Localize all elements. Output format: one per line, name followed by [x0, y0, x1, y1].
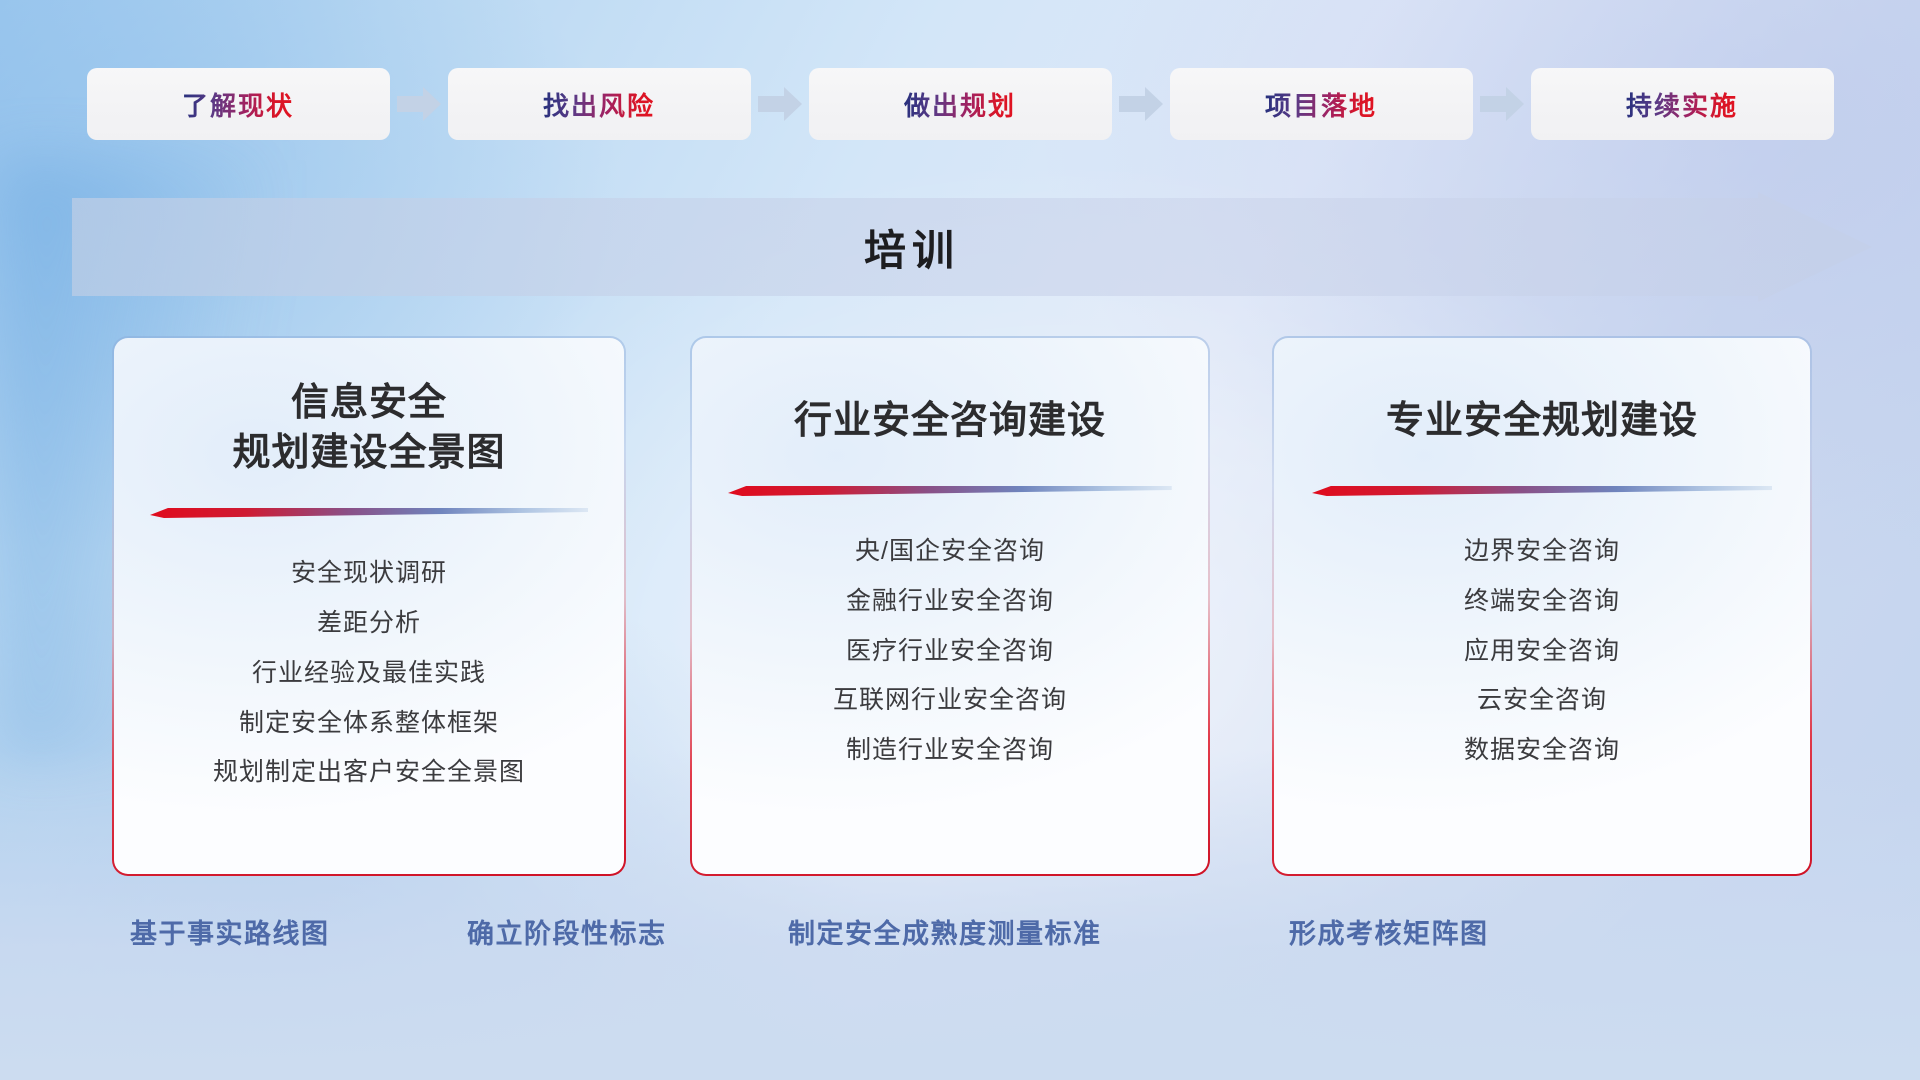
- step-arrow-icon-3: [1112, 68, 1170, 140]
- card-1-divider-wrap: [114, 504, 624, 520]
- card-1-title-line-2: 规划建设全景图: [232, 428, 505, 478]
- card-2[interactable]: 行业安全咨询建设: [690, 336, 1210, 876]
- caption-4: 形成考核矩阵图: [1289, 912, 1489, 951]
- list-item: 医疗行业安全咨询: [846, 632, 1054, 671]
- list-item: 制造行业安全咨询: [846, 731, 1054, 770]
- card-2-inner: 行业安全咨询建设: [692, 338, 1208, 874]
- list-item: 数据安全咨询: [1464, 731, 1620, 770]
- card-3-title: 专业安全规划建设: [1368, 396, 1716, 446]
- step-label-2: 找出风险: [543, 86, 655, 123]
- training-banner: 培训: [72, 192, 1872, 302]
- list-item: 安全现状调研: [291, 554, 447, 593]
- list-item: 金融行业安全咨询: [846, 582, 1054, 621]
- step-box-5[interactable]: 持续实施: [1531, 68, 1834, 140]
- list-item: 应用安全咨询: [1464, 632, 1620, 671]
- card-1-title-line-1: 信息安全: [232, 378, 505, 428]
- caption-row: 基于事实路线图 确立阶段性标志 制定安全成熟度测量标准 形成考核矩阵图: [0, 912, 1920, 972]
- step-arrow-icon-1: [390, 68, 448, 140]
- list-item: 制定安全体系整体框架: [239, 704, 499, 743]
- list-item: 规划制定出客户安全全景图: [213, 753, 525, 792]
- card-3-title-line-1: 专业安全规划建设: [1386, 396, 1698, 446]
- caption-1: 基于事实路线图: [130, 912, 330, 951]
- list-item: 云安全咨询: [1477, 681, 1607, 720]
- step-label-5: 持续实施: [1626, 86, 1738, 123]
- card-1[interactable]: 信息安全 规划建设全景图: [112, 336, 626, 876]
- card-2-divider-icon: [728, 482, 1172, 498]
- card-3-list: 边界安全咨询 终端安全咨询 应用安全咨询 云安全咨询 数据安全咨询: [1274, 532, 1810, 770]
- step-arrow-icon-4: [1473, 68, 1531, 140]
- list-item: 差距分析: [317, 604, 421, 643]
- step-arrow-icon-2: [751, 68, 809, 140]
- list-item: 央/国企安全咨询: [855, 532, 1045, 571]
- card-1-title: 信息安全 规划建设全景图: [214, 378, 523, 478]
- step-box-3[interactable]: 做出规划: [809, 68, 1112, 140]
- step-box-2[interactable]: 找出风险: [448, 68, 751, 140]
- step-label-1: 了解现状: [182, 86, 294, 123]
- card-3[interactable]: 专业安全规划建设: [1272, 336, 1812, 876]
- banner-title: 培训: [72, 192, 1752, 302]
- card-2-divider-wrap: [692, 482, 1208, 498]
- step-box-4[interactable]: 项目落地: [1170, 68, 1473, 140]
- card-2-list: 央/国企安全咨询 金融行业安全咨询 医疗行业安全咨询 互联网行业安全咨询 制造行…: [692, 532, 1208, 770]
- step-box-1[interactable]: 了解现状: [87, 68, 390, 140]
- card-2-title-line-1: 行业安全咨询建设: [794, 396, 1106, 446]
- list-item: 行业经验及最佳实践: [252, 654, 486, 693]
- card-group: 信息安全 规划建设全景图: [0, 336, 1920, 876]
- card-1-divider-icon: [150, 504, 589, 520]
- caption-2: 确立阶段性标志: [467, 912, 667, 951]
- card-3-divider-icon: [1312, 482, 1773, 498]
- list-item: 互联网行业安全咨询: [833, 681, 1067, 720]
- card-1-inner: 信息安全 规划建设全景图: [114, 338, 624, 874]
- card-3-inner: 专业安全规划建设: [1274, 338, 1810, 874]
- card-1-list: 安全现状调研 差距分析 行业经验及最佳实践 制定安全体系整体框架 规划制定出客户…: [114, 554, 624, 792]
- process-step-flow: 了解现状 找出风险 做出规划 项目落地 持续实施: [0, 68, 1920, 140]
- list-item: 终端安全咨询: [1464, 582, 1620, 621]
- caption-3: 制定安全成熟度测量标准: [788, 912, 1102, 951]
- step-label-4: 项目落地: [1265, 86, 1377, 123]
- card-2-title: 行业安全咨询建设: [776, 396, 1124, 446]
- step-label-3: 做出规划: [904, 86, 1016, 123]
- card-3-divider-wrap: [1274, 482, 1810, 498]
- list-item: 边界安全咨询: [1464, 532, 1620, 571]
